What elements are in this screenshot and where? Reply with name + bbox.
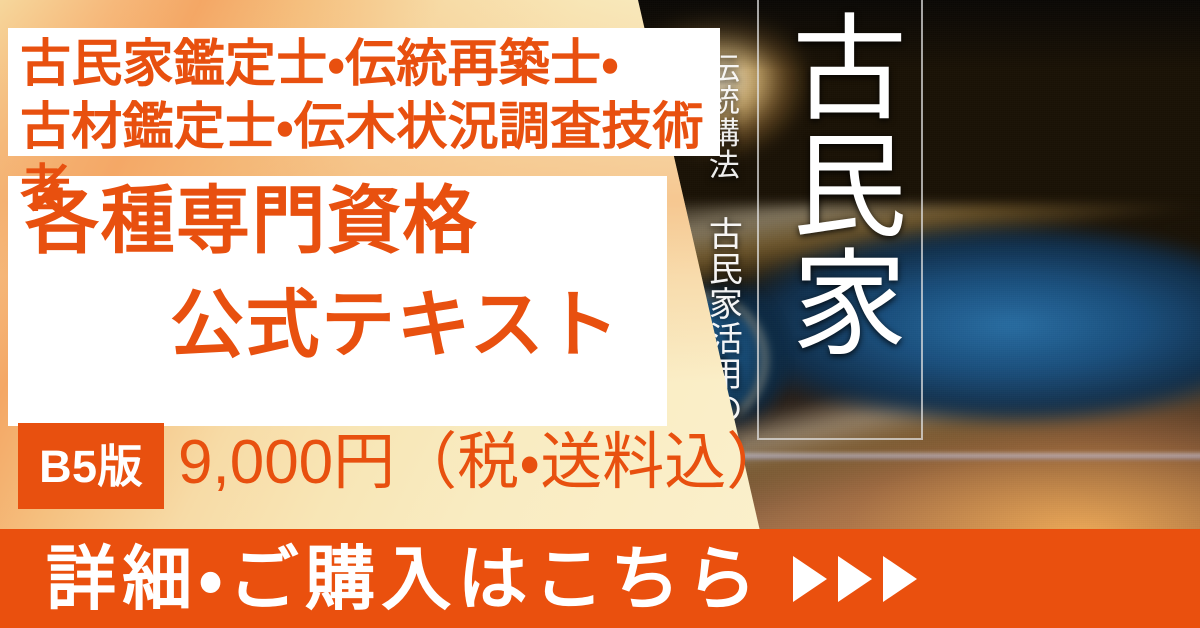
price-text: 9,000円（税・送料込） (178, 432, 788, 494)
cta-arrow-group (793, 556, 917, 602)
cta-button[interactable]: 詳細・ご購入はこちら (0, 529, 1200, 628)
cta-label: 詳細・ご購入はこちら (46, 544, 763, 614)
triangle-right-icon (793, 556, 827, 602)
triangle-right-icon (838, 556, 872, 602)
triangle-right-icon (883, 556, 917, 602)
format-badge-label: B5版 (39, 444, 143, 489)
subtitle-line-1: 各種専門資格 (25, 184, 478, 258)
format-badge: B5版 (18, 423, 164, 509)
book-cover-title: 古民家 (772, 8, 907, 360)
promo-banner: 伝統構法 古民家 古民家活用のための調査と再生の 古民家鑑定士・伝統再築士・ 古… (0, 0, 1200, 628)
subtitle-line-2: 公式テキスト (170, 288, 621, 362)
